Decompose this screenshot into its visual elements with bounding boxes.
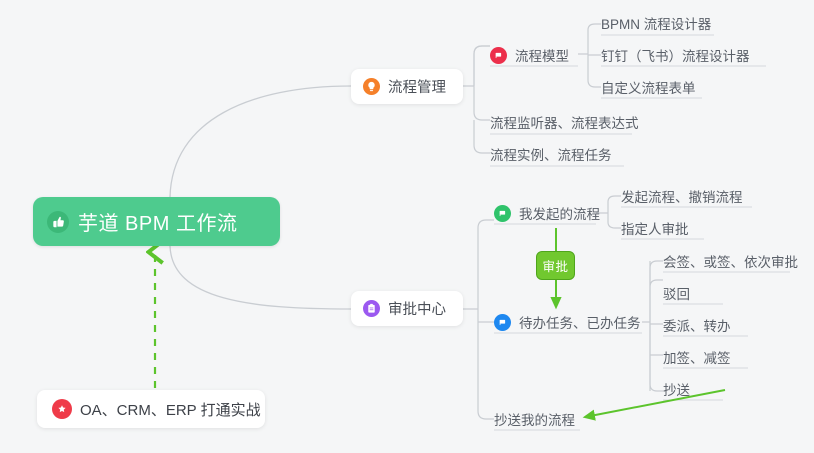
flag-green-icon [494, 205, 511, 222]
flag-red-icon [490, 47, 507, 64]
leaf-custom-flow-form[interactable]: 自定义流程表单 [601, 77, 696, 100]
leaf-label-flow-listener-expression: 流程监听器、流程表达式 [490, 112, 639, 132]
flag-blue-icon [494, 314, 511, 331]
leaf-countersign-orsign-sequential[interactable]: 会签、或签、依次审批 [663, 251, 798, 274]
connector-flow-model-trunk [578, 24, 601, 87]
leaf-label-add-remove-sign: 加签、减签 [663, 347, 731, 367]
leaf-label-my-initiated-flows: 我发起的流程 [519, 203, 600, 223]
connector-root-to-approval-center [170, 246, 351, 309]
connector-root-to-flow-management [170, 86, 351, 197]
leaf-assignee-approval[interactable]: 指定人审批 [621, 218, 689, 241]
leaf-label-assignee-approval: 指定人审批 [621, 218, 689, 238]
leaf-flow-listener-expression[interactable]: 流程监听器、流程表达式 [490, 112, 639, 135]
leaf-label-carbon-copy: 抄送 [663, 379, 690, 399]
branch-node-approval-center[interactable]: 审批中心 [351, 291, 463, 326]
leaf-label-countersign-orsign-sequential: 会签、或签、依次审批 [663, 251, 798, 271]
branch-node-flow-management[interactable]: 流程管理 [351, 69, 463, 104]
leaf-label-custom-flow-form: 自定义流程表单 [601, 77, 696, 97]
branch-label-flow-management: 流程管理 [388, 76, 446, 97]
thumbs-up-icon [47, 211, 69, 233]
leaf-reject[interactable]: 驳回 [663, 283, 690, 306]
leaf-carbon-copy[interactable]: 抄送 [663, 379, 690, 402]
leaf-label-start-cancel-flow: 发起流程、撤销流程 [621, 186, 743, 206]
connector-approval-center-trunk [463, 220, 494, 419]
branch-label-approval-center: 审批中心 [388, 298, 446, 319]
connector-flow-management-elbow [474, 46, 490, 86]
leaf-label-flow-model: 流程模型 [515, 45, 569, 65]
leaf-flow-model[interactable]: 流程模型 [490, 45, 569, 68]
leaf-flow-instance-task[interactable]: 流程实例、流程任务 [490, 144, 612, 167]
leaf-todo-done-tasks[interactable]: 待办任务、已办任务 [494, 312, 641, 335]
leaf-add-remove-sign[interactable]: 加签、减签 [663, 347, 731, 370]
leaf-label-flow-instance-task: 流程实例、流程任务 [490, 144, 612, 164]
leaf-my-initiated-flows[interactable]: 我发起的流程 [494, 203, 600, 226]
approval-badge-label: 审批 [542, 256, 568, 275]
root-label: 芋道 BPM 工作流 [78, 207, 237, 236]
leaf-cc-to-me-flows[interactable]: 抄送我的流程 [494, 409, 575, 432]
connector-flow-management-trunk [463, 46, 490, 153]
leaf-dingtalk-feishu-designer[interactable]: 钉钉（飞书）流程设计器 [601, 45, 750, 68]
arrow-carbon-copy-to-cc-flows [585, 390, 725, 417]
leaf-delegate-transfer[interactable]: 委派、转办 [663, 315, 731, 338]
leaf-label-bpmn-designer: BPMN 流程设计器 [601, 13, 711, 33]
leaf-label-todo-done-tasks: 待办任务、已办任务 [519, 312, 641, 332]
leaf-bpmn-designer[interactable]: BPMN 流程设计器 [601, 13, 711, 36]
mindmap-canvas: 芋道 BPM 工作流 流程管理 流程模型 BPMN 流程设计器 钉钉（飞书）流程… [0, 0, 814, 453]
root-node[interactable]: 芋道 BPM 工作流 [33, 197, 280, 246]
leaf-label-delegate-transfer: 委派、转办 [663, 315, 731, 335]
connector-todo-done-trunk [642, 261, 663, 391]
leaf-label-cc-to-me-flows: 抄送我的流程 [494, 409, 575, 429]
footnote-node-integration[interactable]: OA、CRM、ERP 打通实战 [37, 390, 265, 428]
leaf-start-cancel-flow[interactable]: 发起流程、撤销流程 [621, 186, 743, 209]
lightbulb-icon [363, 78, 380, 95]
leaf-label-reject: 驳回 [663, 283, 690, 303]
clipboard-icon [363, 300, 380, 317]
approval-badge[interactable]: 审批 [536, 251, 575, 280]
leaf-label-dingtalk-feishu-designer: 钉钉（飞书）流程设计器 [601, 45, 750, 65]
footnote-label: OA、CRM、ERP 打通实战 [80, 399, 261, 420]
star-icon [52, 399, 72, 419]
